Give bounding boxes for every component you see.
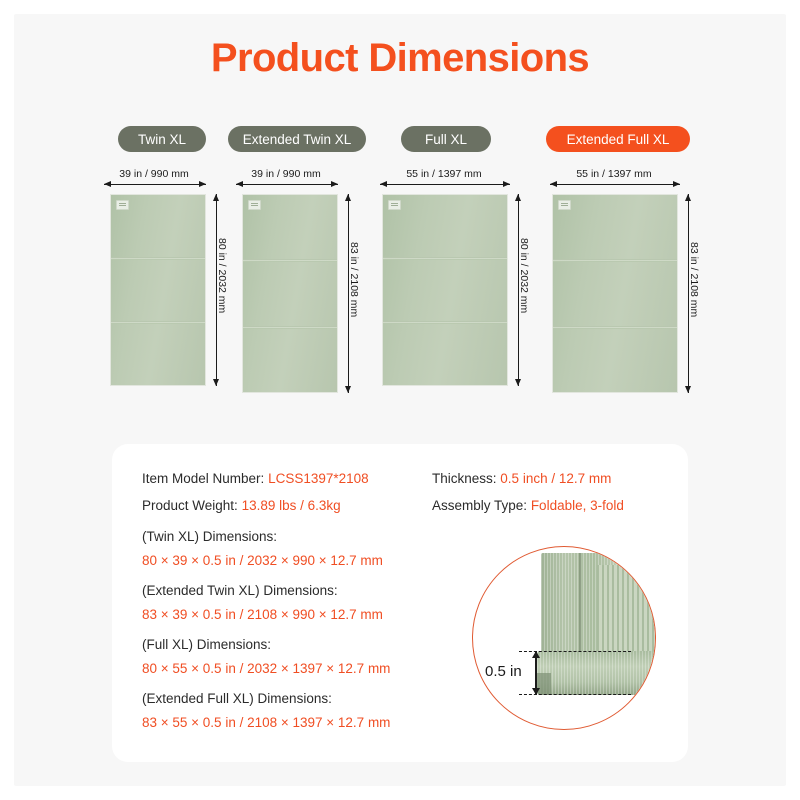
full-xl-height-label: 80 in / 2032 mm xyxy=(518,238,530,313)
product-weight-row: Product Weight: 13.89 lbs / 6.3kg xyxy=(142,498,341,513)
model-number-label: Item Model Number: xyxy=(142,471,264,486)
mattress-label-tag xyxy=(116,200,129,210)
mattress-label-tag xyxy=(558,200,571,210)
model-number-value: LCSS1397*2108 xyxy=(268,471,369,486)
thickness-value: 0.5 inch / 12.7 mm xyxy=(500,471,611,486)
extended-full-xl-dimensions-value: 83 × 55 × 0.5 in / 2108 × 1397 × 12.7 mm xyxy=(142,715,390,730)
assembly-type-row: Assembly Type: Foldable, 3-fold xyxy=(432,498,624,513)
extended-full-xl-mattress-image xyxy=(552,194,678,393)
thickness-row: Thickness: 0.5 inch / 12.7 mm xyxy=(432,471,611,486)
fold-line xyxy=(553,259,677,262)
model-number-row: Item Model Number: LCSS1397*2108 xyxy=(142,471,369,486)
product-dimensions-infographic: Product Dimensions Twin XL Extended Twin… xyxy=(0,0,800,800)
thickness-callout-label: 0.5 in xyxy=(485,663,522,680)
extended-twin-xl-width-label: 39 in / 990 mm xyxy=(232,168,340,180)
extended-full-xl-width-label: 55 in / 1397 mm xyxy=(546,168,682,180)
fold-line xyxy=(243,326,337,329)
twin-xl-dimensions-label: (Twin XL) Dimensions: xyxy=(142,529,277,544)
mattress-label-tag xyxy=(248,200,261,210)
mattress-corner-photo: 0.5 in xyxy=(473,547,655,729)
thickness-detail-inset: 0.5 in xyxy=(472,546,656,730)
extended-twin-xl-dimensions-value: 83 × 39 × 0.5 in / 2108 × 990 × 12.7 mm xyxy=(142,607,383,622)
full-xl-width-arrow xyxy=(380,184,510,185)
assembly-type-label: Assembly Type: xyxy=(432,498,527,513)
extended-full-xl-height-label: 83 in / 2108 mm xyxy=(688,242,700,317)
extended-full-xl-width-arrow xyxy=(550,184,680,185)
extended-full-xl-dimensions-label: (Extended Full XL) Dimensions: xyxy=(142,691,332,706)
twin-xl-width-arrow xyxy=(104,184,206,185)
extended-twin-xl-dimensions-label: (Extended Twin XL) Dimensions: xyxy=(142,583,338,598)
twin-xl-dimensions-value: 80 × 39 × 0.5 in / 2032 × 990 × 12.7 mm xyxy=(142,553,383,568)
mattress-label-tag xyxy=(388,200,401,210)
fold-line xyxy=(383,321,507,324)
twin-xl-width-label: 39 in / 990 mm xyxy=(100,168,208,180)
corner-ribs xyxy=(597,565,655,657)
extended-twin-xl-mattress-image xyxy=(242,194,338,393)
fold-line xyxy=(243,259,337,262)
corner-seam xyxy=(579,553,581,657)
twin-xl-mattress-image xyxy=(110,194,206,386)
extended-twin-xl-height-label: 83 in / 2108 mm xyxy=(348,242,360,317)
full-xl-mattress-image xyxy=(382,194,508,386)
fold-line xyxy=(111,321,205,324)
thickness-arrow xyxy=(535,651,537,695)
corner-edge xyxy=(537,651,655,695)
full-xl-width-label: 55 in / 1397 mm xyxy=(376,168,512,180)
fold-line xyxy=(553,326,677,329)
fold-line xyxy=(111,257,205,260)
fold-line xyxy=(383,257,507,260)
product-weight-value: 13.89 lbs / 6.3kg xyxy=(242,498,341,513)
full-xl-dimensions-value: 80 × 55 × 0.5 in / 2032 × 1397 × 12.7 mm xyxy=(142,661,390,676)
full-xl-dimensions-label: (Full XL) Dimensions: xyxy=(142,637,271,652)
thickness-label: Thickness: xyxy=(432,471,497,486)
product-weight-label: Product Weight: xyxy=(142,498,238,513)
assembly-type-value: Foldable, 3-fold xyxy=(531,498,624,513)
twin-xl-height-label: 80 in / 2032 mm xyxy=(216,238,228,313)
extended-twin-xl-width-arrow xyxy=(236,184,338,185)
